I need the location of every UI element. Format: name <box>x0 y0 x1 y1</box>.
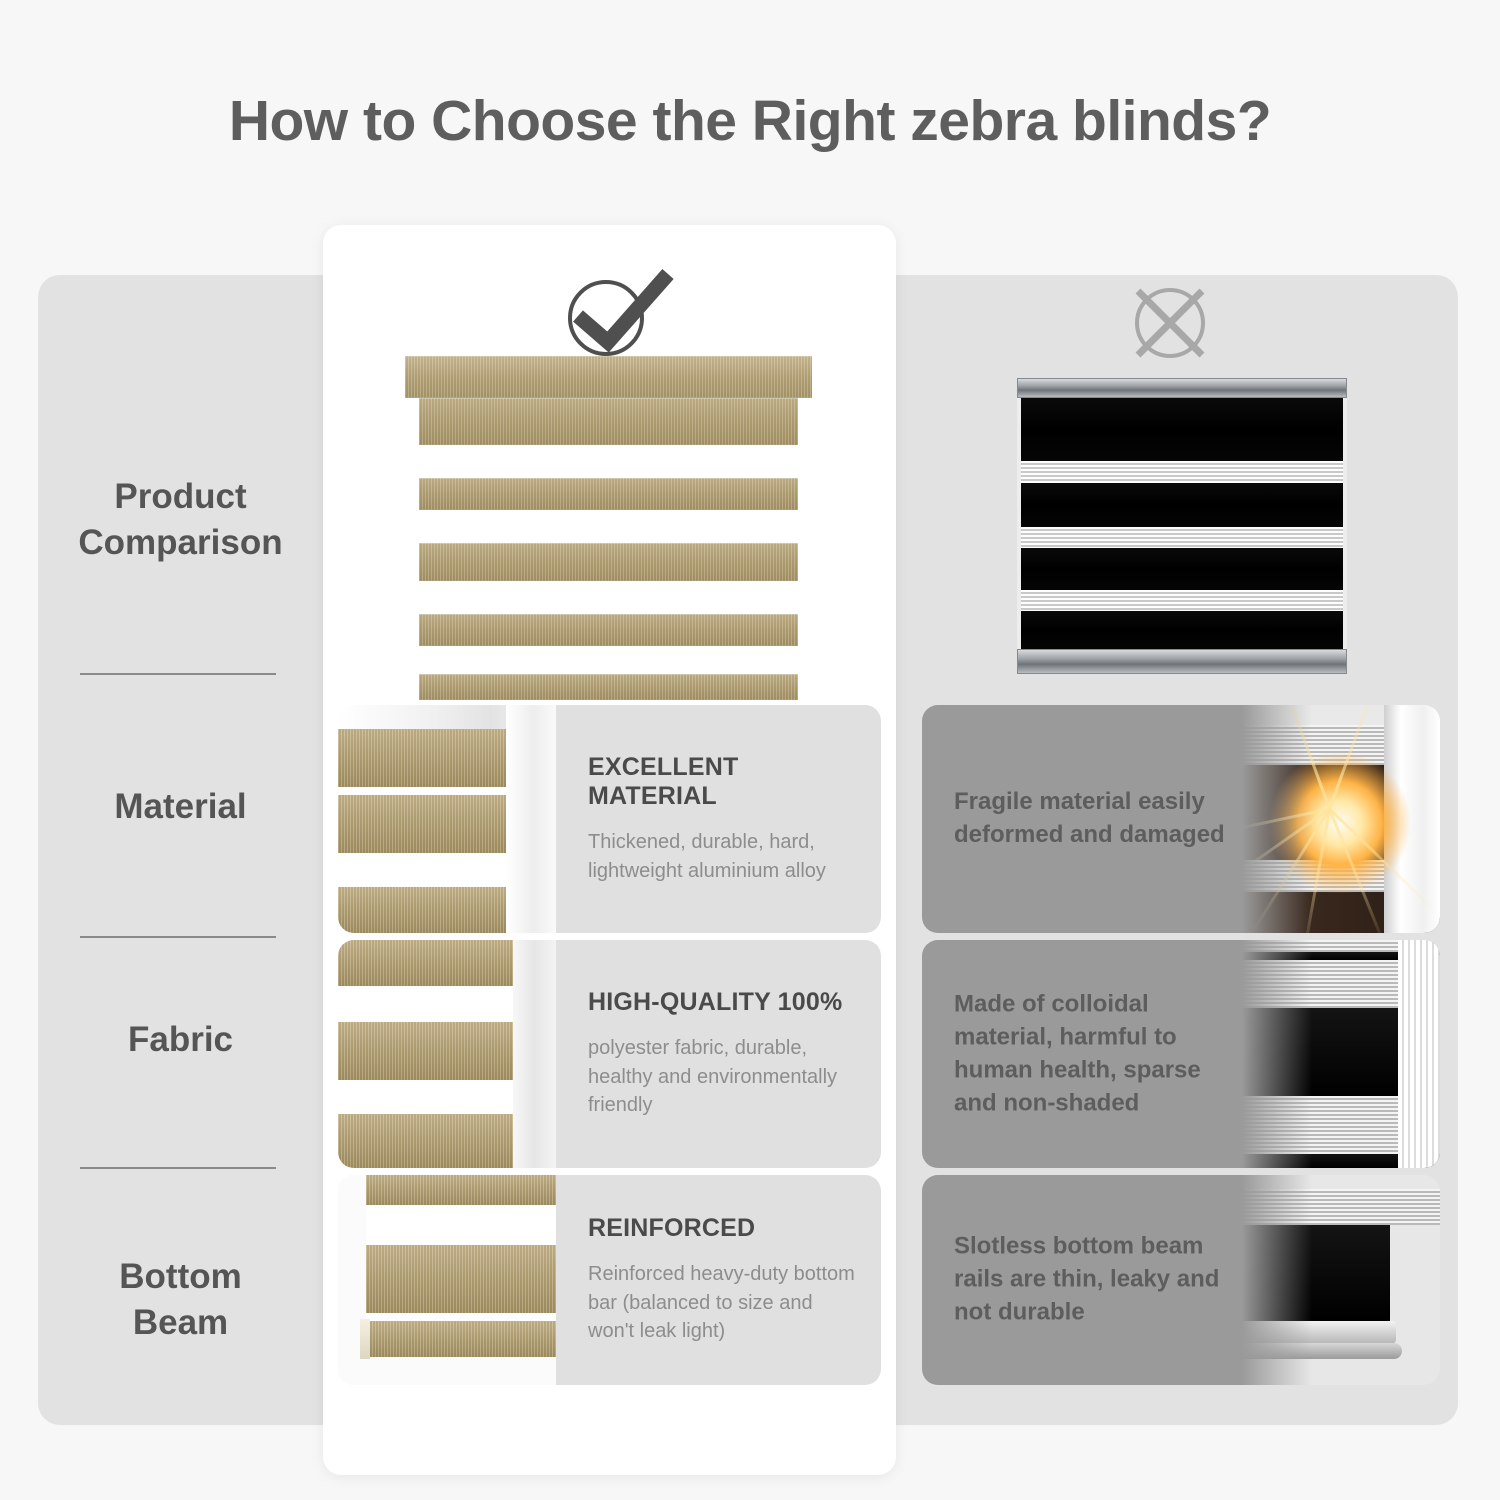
sidebar-label-line2: Beam <box>119 1300 241 1346</box>
sidebar-divider <box>80 1167 276 1169</box>
sidebar-label-line1: Product <box>78 474 282 520</box>
blind-band-opaque <box>1021 398 1343 461</box>
negative-card-fabric: Made of colloidal material, harmful to h… <box>922 940 1440 1168</box>
feature-card-bottom-beam: REINFORCED Reinforced heavy-duty bottom … <box>338 1175 881 1385</box>
blind-slat <box>419 478 798 510</box>
page-title: How to Choose the Right zebra blinds? <box>0 88 1500 154</box>
negative-card-material: Fragile material easily deformed and dam… <box>922 705 1440 933</box>
bottom-bar <box>1017 649 1347 674</box>
feature-heading: REINFORCED <box>588 1214 855 1243</box>
headrail <box>1017 378 1347 398</box>
blind-band-sheer <box>1021 590 1343 611</box>
sidebar-label-material: Material <box>96 784 264 830</box>
blind-slat <box>419 614 798 646</box>
sidebar-label-line1: Bottom <box>119 1254 241 1300</box>
sidebar-label-fabric: Fabric <box>110 1017 251 1063</box>
check-circle-icon <box>556 268 678 360</box>
good-hero-blind-image <box>405 356 812 696</box>
feature-body: polyester fabric, durable, healthy and e… <box>588 1034 855 1119</box>
sidebar-row-product-comparison: Product Comparison <box>38 425 323 615</box>
blind-slat <box>419 543 798 581</box>
feature-heading: EXCELLENT MATERIAL <box>588 753 855 811</box>
sidebar-row-bottom-beam: Bottom Beam <box>38 1205 323 1395</box>
bottom-bar <box>419 674 798 700</box>
negative-body: Slotless bottom beam rails are thin, lea… <box>954 1231 1234 1330</box>
negative-body: Fragile material easily deformed and dam… <box>954 786 1234 852</box>
feature-card-material: EXCELLENT MATERIAL Thickened, durable, h… <box>338 705 881 933</box>
feature-image-fabric <box>338 940 556 1168</box>
blind-band-opaque <box>1021 483 1343 527</box>
feature-heading: HIGH-QUALITY 100% <box>588 988 855 1017</box>
sidebar-row-material: Material <box>38 747 323 867</box>
feature-body: Reinforced heavy-duty bottom bar (balanc… <box>588 1260 855 1345</box>
sidebar-label-line2: Comparison <box>78 520 282 566</box>
blind-band-sheer <box>1021 461 1343 483</box>
sidebar-divider <box>80 936 276 938</box>
feature-image-bottom-beam <box>338 1175 556 1385</box>
feature-card-fabric: HIGH-QUALITY 100% polyester fabric, dura… <box>338 940 881 1168</box>
feature-body: Thickened, durable, hard, lightweight al… <box>588 828 855 885</box>
negative-card-bottom-beam: Slotless bottom beam rails are thin, lea… <box>922 1175 1440 1385</box>
blind-band-sheer <box>1021 527 1343 548</box>
feature-image-material <box>338 705 556 933</box>
sidebar-row-fabric: Fabric <box>38 980 323 1100</box>
cross-circle-icon <box>1124 282 1216 364</box>
blind-band-opaque <box>1021 548 1343 590</box>
blind-band-opaque <box>1021 611 1343 649</box>
negative-body: Made of colloidal material, harmful to h… <box>954 988 1234 1120</box>
headrail <box>405 356 812 398</box>
bad-hero-blind-image <box>1017 378 1347 674</box>
sidebar-divider <box>80 673 276 675</box>
blind-slat <box>419 398 798 445</box>
criteria-sidebar: Product Comparison Material Fabric Botto… <box>38 275 323 1425</box>
